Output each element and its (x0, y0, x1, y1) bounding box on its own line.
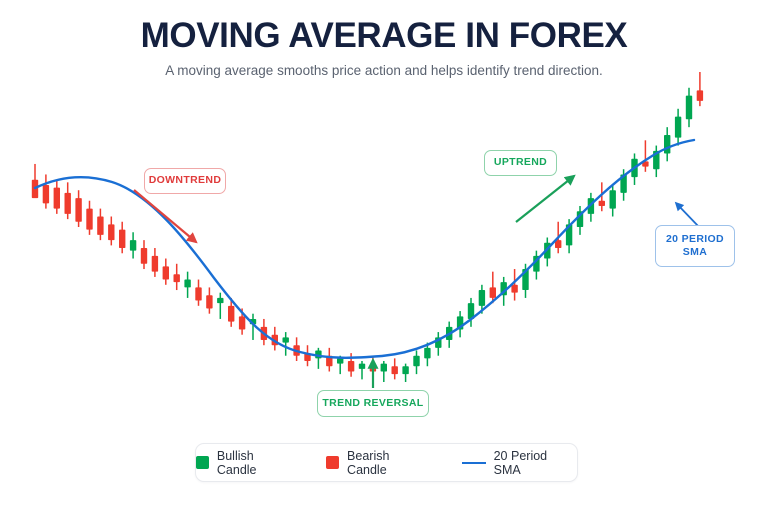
red-square-icon (326, 456, 339, 469)
candle-series (32, 72, 703, 382)
candle-body (108, 224, 114, 240)
candle-body (119, 230, 125, 248)
candle-body (697, 90, 703, 101)
candle-body (184, 280, 190, 288)
sma-callout-line2: SMA (683, 246, 707, 259)
candle-body (381, 364, 387, 372)
candle-body (337, 358, 343, 363)
candle-body (152, 256, 158, 272)
candle-body (479, 290, 485, 306)
candle-body (392, 366, 398, 374)
candle-body (65, 193, 71, 214)
candle-body (43, 185, 49, 203)
candle-body (195, 287, 201, 300)
candle-body (174, 274, 180, 282)
candle-body (402, 366, 408, 374)
legend-label-sma: 20 Period SMA (494, 449, 577, 477)
blue-line-icon (462, 462, 486, 464)
green-square-icon (196, 456, 209, 469)
candle-body (97, 216, 103, 234)
candle-body (610, 190, 616, 208)
legend-item-bullish: Bullish Candle (196, 449, 296, 477)
candle-body (664, 135, 670, 153)
candle-body (359, 364, 365, 369)
candlestick-chart: DOWNTREND UPTREND TREND REVERSAL 20 PERI… (0, 0, 768, 512)
candle-body (490, 287, 496, 298)
candle-body (75, 198, 81, 222)
candle-body (130, 240, 136, 251)
candle-body (163, 266, 169, 279)
candle-body (239, 316, 245, 329)
candle-body (54, 188, 60, 209)
downtrend-label: DOWNTREND (144, 168, 226, 194)
candle-body (141, 248, 147, 264)
downtrend-arrow (134, 190, 196, 242)
trend-reversal-label: TREND REVERSAL (317, 390, 429, 417)
candle-body (599, 201, 605, 206)
candle-body (348, 361, 354, 372)
uptrend-arrow (516, 176, 574, 222)
candle-body (206, 295, 212, 308)
legend-label-bullish: Bullish Candle (217, 449, 296, 477)
uptrend-label: UPTREND (484, 150, 557, 176)
chart-legend: Bullish Candle Bearish Candle 20 Period … (195, 443, 578, 482)
candle-body (413, 356, 419, 367)
legend-item-bearish: Bearish Candle (326, 449, 432, 477)
candle-body (424, 348, 430, 359)
candle-body (228, 306, 234, 322)
candle-body (511, 285, 517, 293)
candle-body (686, 96, 692, 120)
sma-callout-line1: 20 PERIOD (666, 233, 724, 246)
legend-label-bearish: Bearish Candle (347, 449, 432, 477)
sma-callout-label: 20 PERIOD SMA (655, 225, 735, 267)
candle-body (675, 117, 681, 138)
candle-body (283, 337, 289, 342)
legend-item-sma: 20 Period SMA (462, 449, 577, 477)
candle-body (86, 209, 92, 230)
candle-body (217, 298, 223, 303)
infographic-page: MOVING AVERAGE IN FOREX A moving average… (0, 0, 768, 512)
chart-canvas (0, 0, 768, 512)
